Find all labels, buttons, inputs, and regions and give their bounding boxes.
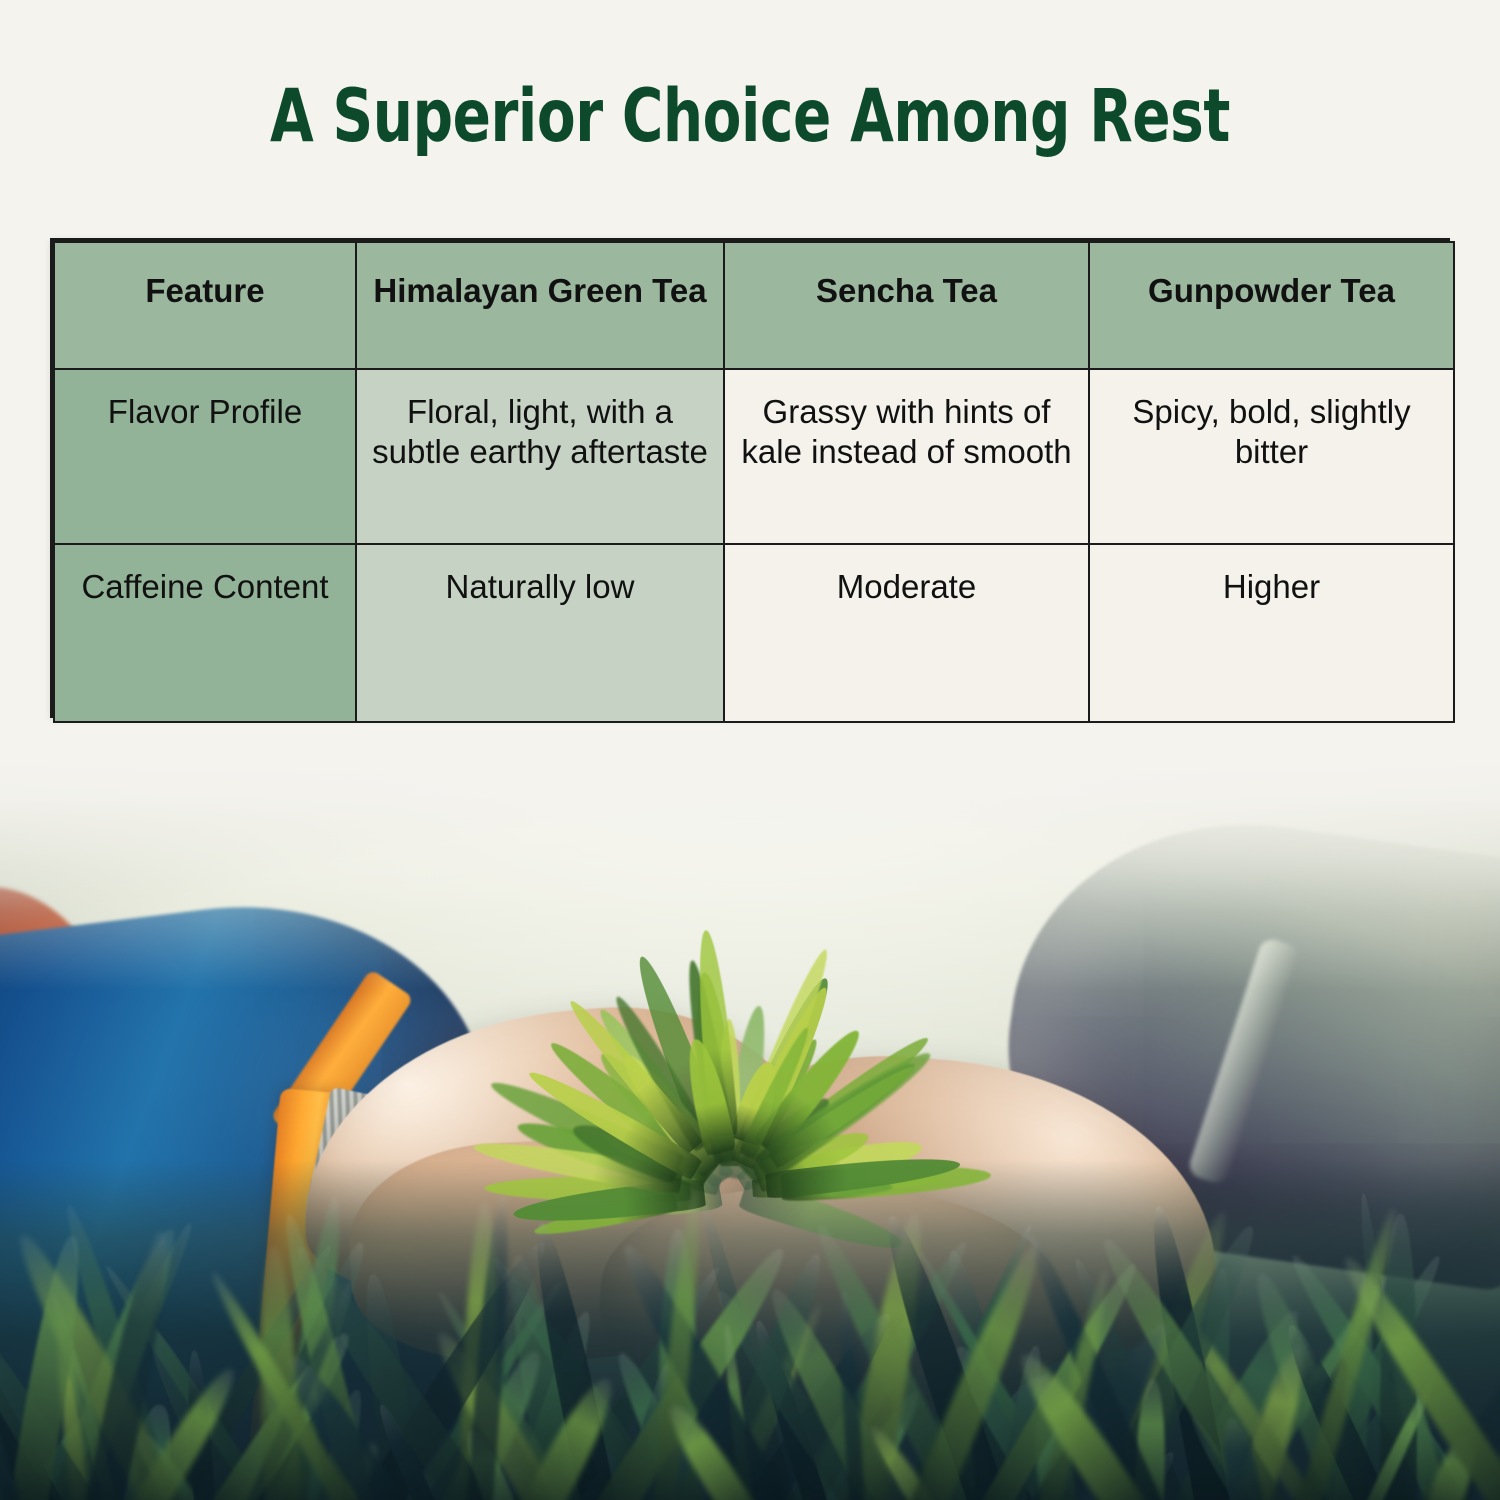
column-header-himalayan: Himalayan Green Tea	[356, 242, 724, 369]
cell-caffeine-himalayan: Naturally low	[356, 544, 724, 722]
table-body: Flavor Profile Floral, light, with a sub…	[54, 369, 1454, 722]
table-row: Caffeine Content Naturally low Moderate …	[54, 544, 1454, 722]
poster-canvas: A Superior Choice Among Rest Feature Him…	[0, 0, 1500, 1500]
tea-comparison-table: Feature Himalayan Green Tea Sencha Tea G…	[53, 241, 1455, 723]
cell-flavor-gunpowder: Spicy, bold, slightly bitter	[1089, 369, 1454, 544]
tea-field-photo	[0, 760, 1500, 1500]
row-header-caffeine-content: Caffeine Content	[54, 544, 356, 722]
column-header-gunpowder: Gunpowder Tea	[1089, 242, 1454, 369]
table-header: Feature Himalayan Green Tea Sencha Tea G…	[54, 242, 1454, 369]
column-header-feature: Feature	[54, 242, 356, 369]
column-header-sencha: Sencha Tea	[724, 242, 1089, 369]
page-title: A Superior Choice Among Rest	[105, 74, 1395, 159]
cell-flavor-sencha: Grassy with hints of kale instead of smo…	[724, 369, 1089, 544]
comparison-table: Feature Himalayan Green Tea Sencha Tea G…	[50, 238, 1450, 718]
tea-plant-foliage	[0, 1160, 1500, 1500]
cell-flavor-himalayan: Floral, light, with a subtle earthy afte…	[356, 369, 724, 544]
header-row: Feature Himalayan Green Tea Sencha Tea G…	[54, 242, 1454, 369]
cell-caffeine-gunpowder: Higher	[1089, 544, 1454, 722]
table-row: Flavor Profile Floral, light, with a sub…	[54, 369, 1454, 544]
row-header-flavor-profile: Flavor Profile	[54, 369, 356, 544]
cell-caffeine-sencha: Moderate	[724, 544, 1089, 722]
photo-top-fade	[0, 760, 1500, 990]
